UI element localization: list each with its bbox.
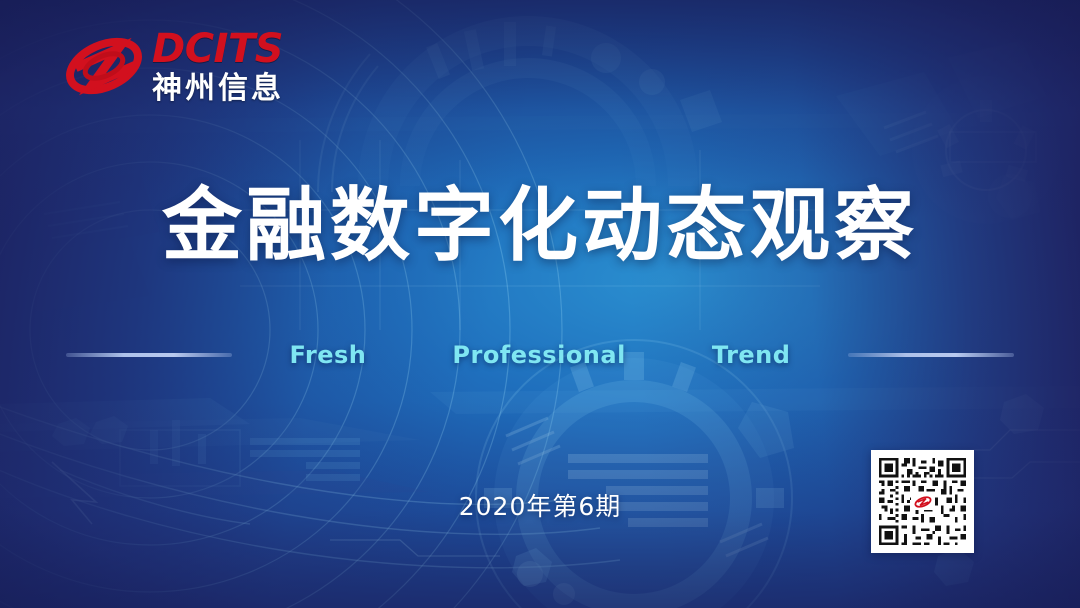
poster-canvas: DCITS 神州信息 金融数字化动态观察 Fresh Professional … (0, 0, 1080, 608)
dcits-swirl-icon-small (913, 496, 933, 508)
tagline-trend: Trend (702, 341, 801, 369)
qr-code[interactable] (871, 450, 974, 553)
tagline-professional: Professional (442, 341, 635, 369)
tagline-fresh: Fresh (280, 341, 377, 369)
page-title: 金融数字化动态观察 (0, 186, 1080, 266)
tagline-row: Fresh Professional Trend (0, 338, 1080, 372)
brand-logo: DCITS 神州信息 (62, 28, 284, 104)
brand-wordmark: DCITS (152, 29, 284, 69)
divider-right (848, 353, 1014, 357)
brand-logo-text: DCITS 神州信息 (152, 29, 284, 104)
dcits-swirl-icon (62, 28, 146, 104)
qr-center-logo (911, 494, 935, 510)
brand-chinese-name: 神州信息 (152, 74, 284, 104)
divider-left (66, 353, 232, 357)
